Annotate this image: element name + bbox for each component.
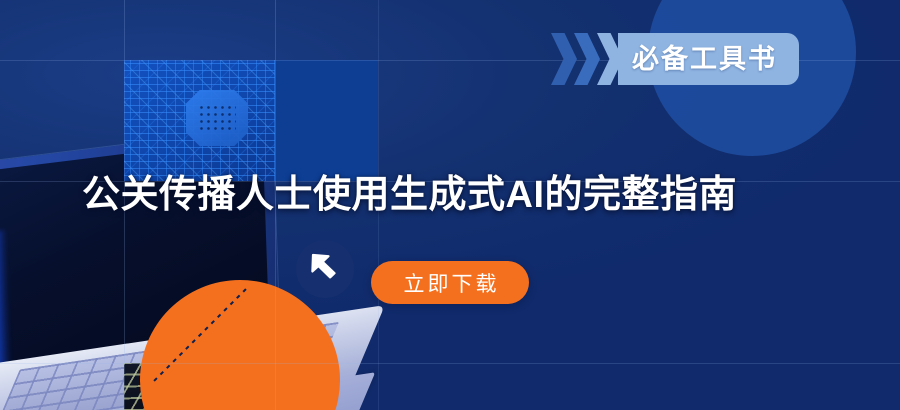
badge-label: 必备工具书 [632,46,777,73]
badge-necessary-toolbook: 必备工具书 [551,33,799,85]
download-button[interactable]: 立即下载 [371,261,529,304]
arrow-up-left-icon [306,248,342,284]
circuit-chip-dots [198,104,236,134]
circuit-board-texture [124,60,275,181]
badge-pill: 必备工具书 [618,33,799,85]
promo-banner: 必备工具书 公关传播人士使用生成式AI的完整指南 立即下载 [0,0,900,410]
chevron-right-icon [574,33,600,85]
chevron-right-icon [551,33,577,85]
page-title: 公关传播人士使用生成式AI的完整指南 [82,174,842,218]
circuit-board-texture-secondary [275,60,378,181]
